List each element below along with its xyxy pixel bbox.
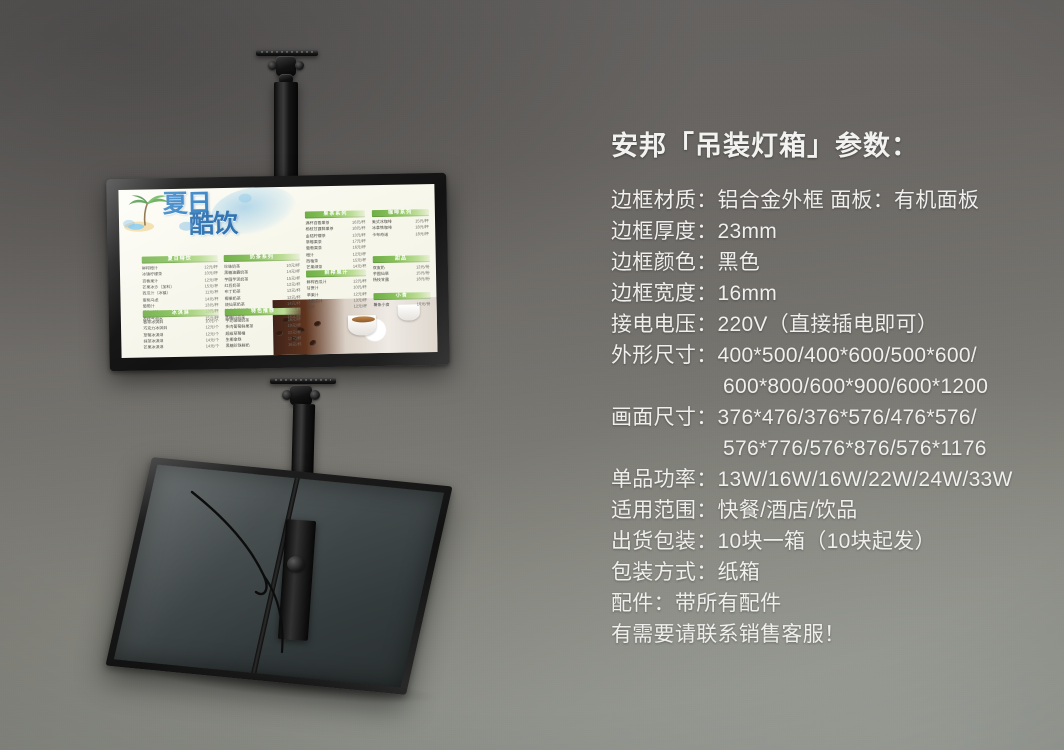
- spec-line: 边框颜色：黑色: [611, 247, 1051, 278]
- spec-line: 单品功率：13W/16W/16W/22W/24W/33W: [611, 464, 1051, 495]
- spec-line: 有需要请联系销售客服！: [611, 619, 1051, 650]
- product-photo: 夏日 酷饮 夏日特饮鲜榨橙汁12元/杯冰镇柠檬茶10元/杯百香果汁12元/杯芒果…: [0, 0, 1064, 750]
- spec-line: 外形尺寸：400*500/400*600/500*600/: [611, 340, 1051, 371]
- spec-line: 配件：带所有配件: [611, 588, 1051, 619]
- spec-line: 边框宽度：16mm: [611, 278, 1051, 309]
- spec-line: 边框材质：铝合金外框 面板：有机面板: [611, 185, 1051, 216]
- spec-line-list: 边框材质：铝合金外框 面板：有机面板边框厚度：23mm边框颜色：黑色边框宽度：1…: [611, 185, 1051, 650]
- spec-line: 576*776/576*876/576*1176: [611, 433, 1051, 464]
- spec-line: 边框厚度：23mm: [611, 216, 1051, 247]
- spec-title: 安邦「吊装灯箱」参数：: [611, 124, 1051, 163]
- spec-line: 画面尺寸：376*476/376*576/476*576/: [611, 402, 1051, 433]
- spec-line: 接电电压：220V（直接插电即可）: [611, 309, 1051, 340]
- specification-panel: 安邦「吊装灯箱」参数： 边框材质：铝合金外框 面板：有机面板边框厚度：23mm边…: [611, 124, 1051, 650]
- spec-line: 包装方式：纸箱: [611, 557, 1051, 588]
- spec-line: 600*800/600*900/600*1200: [611, 371, 1051, 402]
- spec-line: 出货包装：10块一箱（10块起发）: [611, 526, 1051, 557]
- spec-line: 适用范围：快餐/酒店/饮品: [611, 495, 1051, 526]
